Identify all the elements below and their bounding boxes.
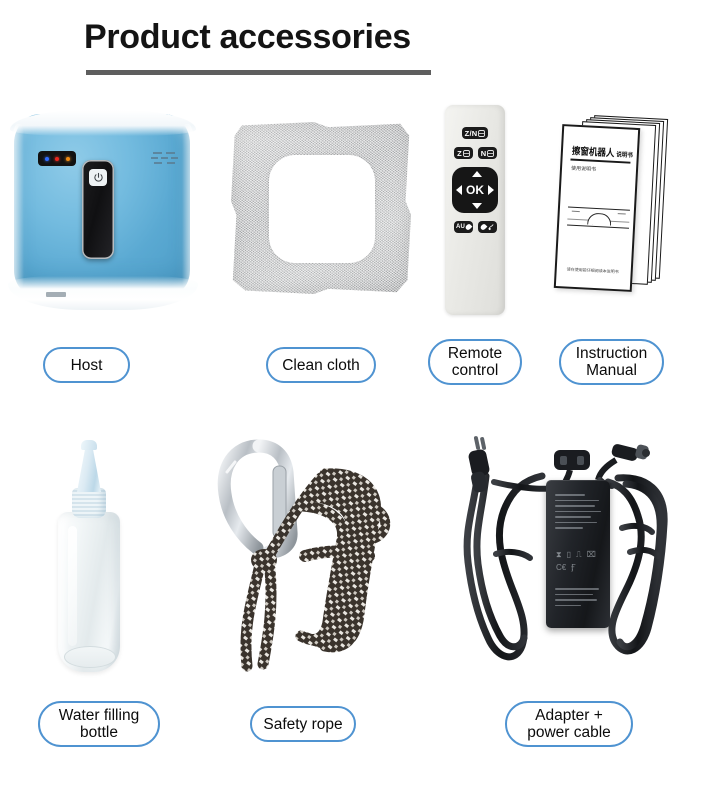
vent-grille-icon: [151, 152, 179, 168]
manual-cover-subtitle: 使用说明书: [571, 165, 596, 173]
accessory-host: [8, 110, 198, 310]
accessory-water-bottle: [48, 440, 130, 675]
no-dispose-icon: ⌧: [587, 550, 596, 559]
clean-cloth-icon: [231, 122, 411, 294]
arrow-left-icon[interactable]: [456, 185, 462, 195]
remote-button-n[interactable]: N: [478, 147, 497, 159]
adapter-brick: ⧗ ▯ ⎍ ⌧ C€ Ӻ: [546, 480, 610, 628]
label-remote-control: Remote control: [428, 339, 522, 385]
battery-icon: ▯: [567, 550, 571, 559]
instruction-manual-icon: 擦窗机器人说明书 使用说明书 请在使用前仔细阅读本说明书: [548, 112, 668, 302]
accessory-instruction-manual: 擦窗机器人说明书 使用说明书 请在使用前仔细阅读本说明书: [548, 112, 668, 302]
arrow-right-icon[interactable]: [488, 185, 494, 195]
remote-button-ok[interactable]: OK: [463, 180, 487, 200]
page-title: Product accessories: [84, 18, 411, 57]
remote-dpad[interactable]: OK: [452, 167, 498, 213]
control-panel: [82, 160, 114, 259]
adapter-label-lower: [555, 588, 603, 628]
safety-rope-icon: [213, 428, 393, 678]
adapter-power-cable-icon: ⧗ ▯ ⎍ ⌧ C€ Ӻ: [450, 432, 705, 672]
manual-cover: 擦窗机器人说明书 使用说明书 请在使用前仔细阅读本说明书: [554, 124, 640, 292]
led-indicator-strip: [38, 151, 76, 166]
label-safety-rope: Safety rope: [250, 706, 356, 742]
label-adapter: Adapter + power cable: [505, 701, 633, 747]
fcc-mark-icon: Ӻ: [571, 563, 575, 572]
accessory-clean-cloth: [231, 122, 411, 294]
manual-cover-footer: 请在使用前仔细阅读本说明书: [567, 267, 619, 276]
certification-symbols: ⧗ ▯ ⎍ ⌧ C€ Ӻ: [556, 550, 602, 572]
power-button-icon[interactable]: [89, 169, 107, 186]
accessory-remote-control: Z/N Z N OK: [445, 105, 505, 315]
label-water-bottle: Water filling bottle: [38, 701, 160, 747]
hourglass-icon: ⧗: [556, 550, 562, 559]
label-instruction-manual: Instruction Manual: [559, 339, 664, 385]
host-icon: [8, 110, 198, 310]
remote-button-z[interactable]: Z: [454, 147, 473, 159]
remote-button-auto-spray[interactable]: AU: [454, 221, 473, 233]
label-host: Host: [43, 347, 130, 383]
label-clean-cloth: Clean cloth: [266, 347, 376, 383]
droplet-icon: [465, 223, 473, 231]
remote-button-manual-spray[interactable]: [478, 221, 497, 233]
remote-button-zn[interactable]: Z/N: [462, 127, 488, 139]
manual-diagram: [567, 200, 630, 233]
accessory-adapter: ⧗ ▯ ⎍ ⌧ C€ Ӻ: [450, 432, 705, 672]
arrow-down-icon[interactable]: [472, 203, 482, 209]
title-divider: [86, 70, 431, 75]
water-filling-bottle-icon: [48, 440, 130, 675]
remote-control-icon: Z/N Z N OK: [445, 105, 505, 315]
ce-mark-icon: C€: [556, 563, 566, 572]
arrow-up-icon[interactable]: [472, 171, 482, 177]
psu-icon: ⎍: [576, 550, 582, 559]
accessory-safety-rope: [213, 428, 393, 678]
page-header: Product accessories: [0, 0, 727, 92]
